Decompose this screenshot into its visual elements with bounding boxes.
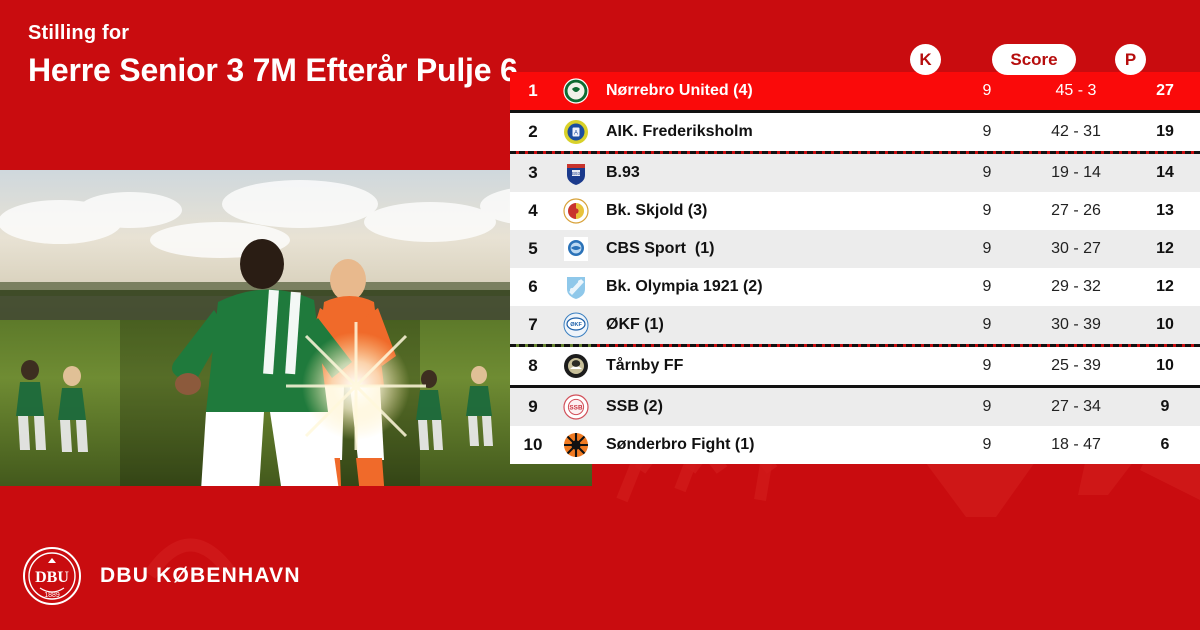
row-team-name[interactable]: SSB (2) [596,398,952,416]
oekf-crest-icon: ØKF [556,312,596,338]
row-played: 9 [952,202,1022,220]
ssb-crest-icon: SSB [556,394,596,420]
football-match-photo [0,170,592,486]
row-score: 30 - 27 [1022,240,1130,258]
row-team-name[interactable]: Tårnby FF [596,357,952,375]
row-position: 8 [510,356,556,376]
row-position: 10 [510,435,556,455]
table-row[interactable]: 4Bk. Skjold (3)927 - 2613 [510,192,1200,230]
table-header: K Score P [510,44,1200,76]
svg-text:1889: 1889 [44,592,60,599]
row-team-name[interactable]: AIK. Frederiksholm [596,123,952,141]
svg-text:A: A [574,131,578,137]
table-row[interactable]: 10Sønderbro Fight (1)918 - 476 [510,426,1200,464]
svg-text:SSB: SSB [569,404,583,411]
row-team-name[interactable]: B.93 [596,164,952,182]
row-score: 19 - 14 [1022,164,1130,182]
row-points: 12 [1130,278,1200,296]
row-points: 19 [1130,123,1200,141]
header-eyebrow: Stilling for [28,22,129,45]
standings-table: 1Nørrebro United (4)945 - 3272AAIK. Fred… [510,72,1200,464]
row-team-name[interactable]: CBS Sport (1) [596,240,952,258]
row-points: 27 [1130,82,1200,100]
row-position: 2 [510,122,556,142]
table-row[interactable]: 1Nørrebro United (4)945 - 327 [510,72,1200,110]
row-position: 1 [510,81,556,101]
table-row[interactable]: 2AAIK. Frederiksholm942 - 3119 [510,113,1200,151]
row-team-name[interactable]: ØKF (1) [596,316,952,334]
row-played: 9 [952,436,1022,454]
row-team-name[interactable]: Bk. Olympia 1921 (2) [596,278,952,296]
table-row[interactable]: 3B93B.93919 - 1414 [510,154,1200,192]
svg-text:B93: B93 [572,171,581,176]
row-score: 25 - 39 [1022,357,1130,375]
row-position: 9 [510,397,556,417]
row-points: 10 [1130,357,1200,375]
row-position: 6 [510,277,556,297]
row-score: 30 - 39 [1022,316,1130,334]
row-score: 29 - 32 [1022,278,1130,296]
row-score: 45 - 3 [1022,82,1130,100]
b93-crest-icon: B93 [556,160,596,186]
row-points: 12 [1130,240,1200,258]
row-position: 4 [510,201,556,221]
row-played: 9 [952,240,1022,258]
row-points: 13 [1130,202,1200,220]
row-played: 9 [952,82,1022,100]
row-points: 6 [1130,436,1200,454]
row-score: 42 - 31 [1022,123,1130,141]
row-played: 9 [952,316,1022,334]
row-played: 9 [952,398,1022,416]
row-score: 18 - 47 [1022,436,1130,454]
table-row[interactable]: 6Bk. Olympia 1921 (2)929 - 3212 [510,268,1200,306]
page-title: Herre Senior 3 7M Efterår Pulje 6 [28,50,528,91]
column-header-points: P [1115,44,1146,75]
table-row[interactable]: 7ØKFØKF (1)930 - 3910 [510,306,1200,344]
column-header-played: K [910,44,941,75]
taarnby-ff-crest-icon [556,353,596,379]
row-position: 7 [510,315,556,335]
svg-text:DBU: DBU [35,569,69,586]
bk-olympia-1921-crest-icon [556,274,596,300]
table-row[interactable]: 9SSBSSB (2)927 - 349 [510,388,1200,426]
row-team-name[interactable]: Bk. Skjold (3) [596,202,952,220]
row-played: 9 [952,164,1022,182]
row-team-name[interactable]: Sønderbro Fight (1) [596,436,952,454]
row-played: 9 [952,123,1022,141]
table-row[interactable]: 5CBS Sport (1)930 - 2712 [510,230,1200,268]
row-points: 14 [1130,164,1200,182]
photo-illustration [0,170,592,486]
aik-frederiksholm-crest-icon: A [556,119,596,145]
row-played: 9 [952,278,1022,296]
svg-text:ØKF: ØKF [570,322,582,328]
column-header-score: Score [992,44,1076,75]
footer-brand: DBU 1889 DBU KØBENHAVN [22,546,301,606]
dbu-crest-icon: DBU 1889 [22,546,82,606]
brand-name: DBU KØBENHAVN [100,564,301,588]
table-row[interactable]: 8Tårnby FF925 - 3910 [510,347,1200,385]
row-points: 9 [1130,398,1200,416]
row-score: 27 - 26 [1022,202,1130,220]
row-played: 9 [952,357,1022,375]
noerrebro-united-crest-icon [556,78,596,104]
row-points: 10 [1130,316,1200,334]
soenderbro-fight-crest-icon [556,432,596,458]
row-score: 27 - 34 [1022,398,1130,416]
row-position: 3 [510,163,556,183]
bk-skjold-crest-icon [556,198,596,224]
row-team-name[interactable]: Nørrebro United (4) [596,82,952,100]
row-position: 5 [510,239,556,259]
cbs-sport-crest-icon [556,236,596,262]
standings-graphic: Stilling for Herre Senior 3 7M Efterår P… [0,0,1200,630]
